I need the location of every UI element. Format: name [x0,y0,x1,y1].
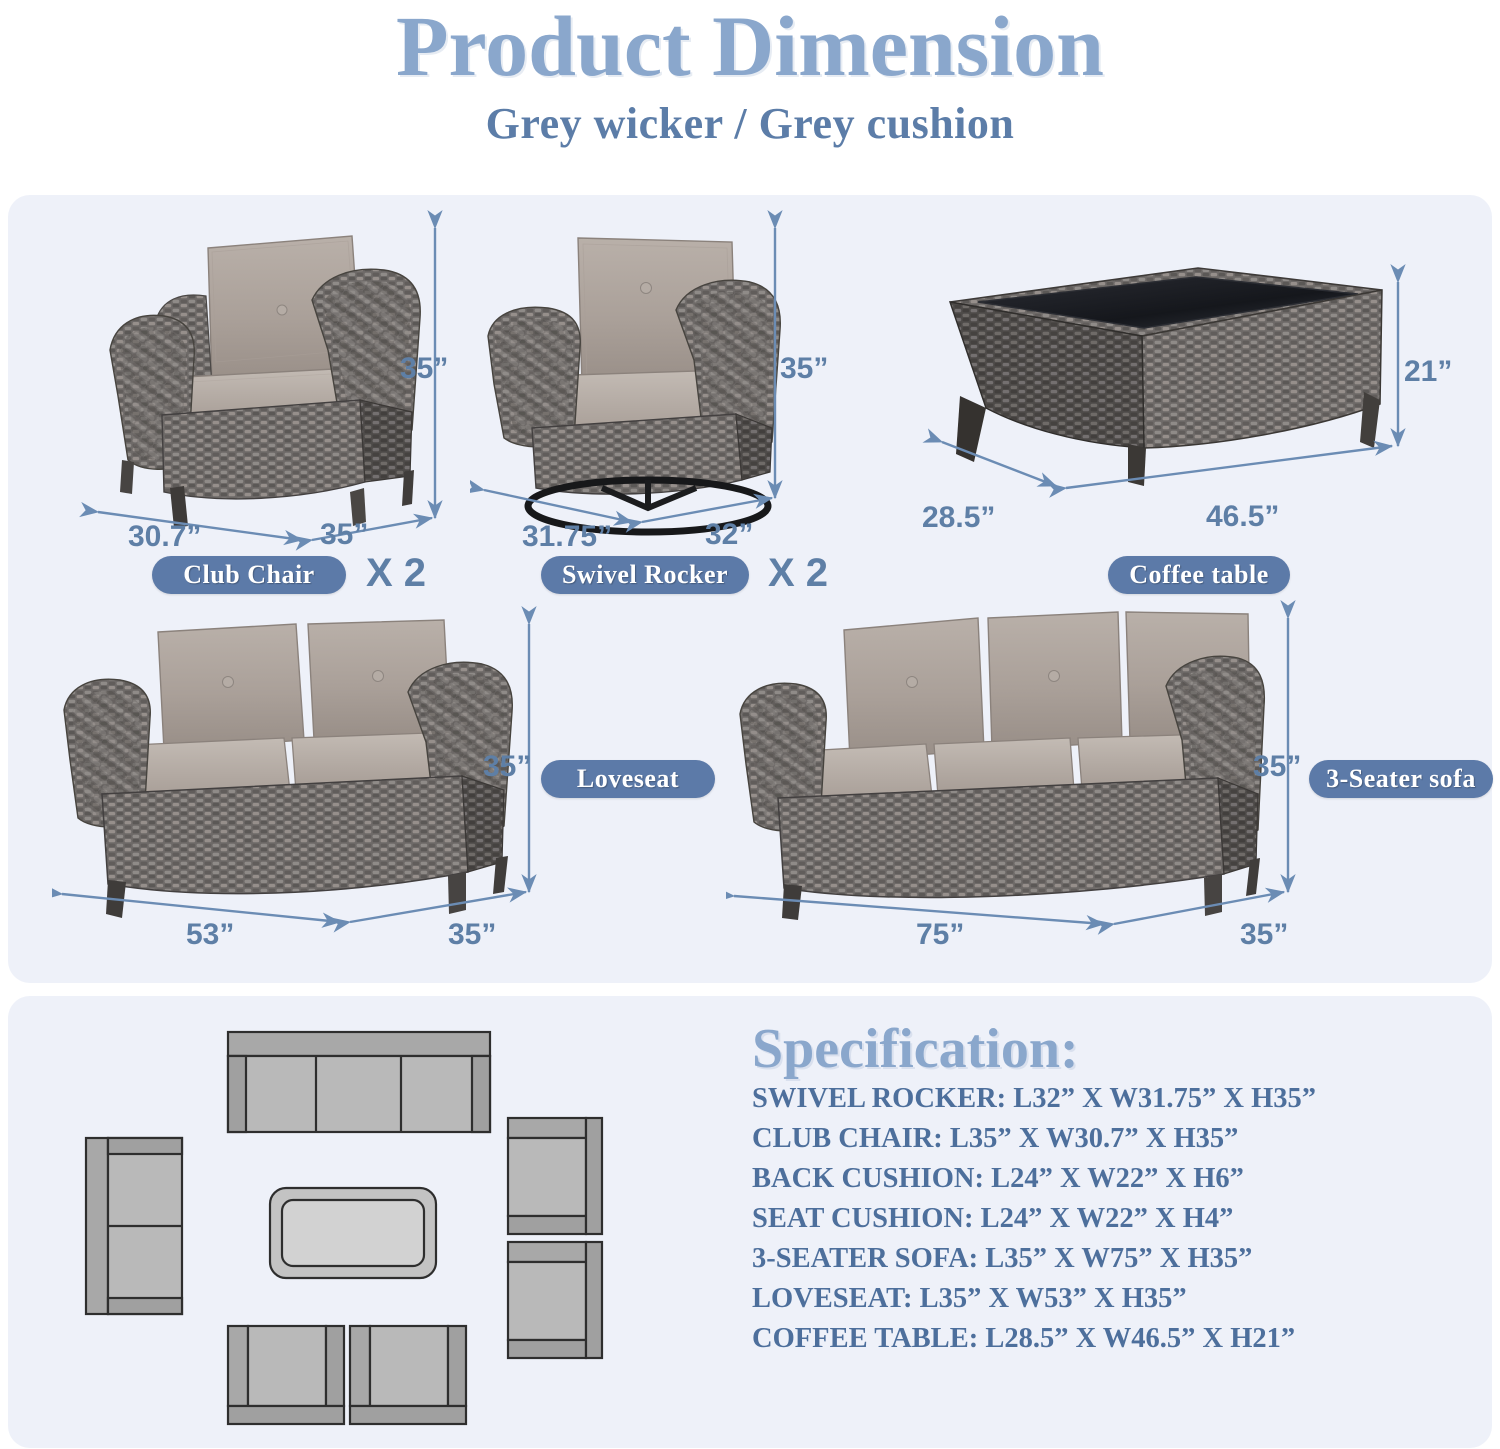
layout-coffee-table [270,1188,436,1278]
spec-line-seat-cushion: SEAT CUSHION: L24” X W22” X H4” [752,1205,1482,1234]
loveseat-badge: Loveseat [541,760,715,798]
club-chair-depth-label: 35” [320,518,368,552]
coffee-table-dimension-lines [920,250,1420,500]
loveseat-width-label: 53” [186,918,234,952]
layout-chair-right-lower [508,1242,602,1358]
layout-loveseat [86,1138,182,1314]
layout-three-seater-sofa [228,1032,490,1132]
loveseat-height-label: 35” [483,750,531,784]
three-seater-sofa-depth-label: 35” [1240,918,1288,952]
spec-line-swivel-rocker: SWIVEL ROCKER: L32” X W31.75” X H35” [752,1085,1482,1114]
club-chair-multiplier: X 2 [366,551,426,596]
spec-line-loveseat: LOVESEAT: L35” X W53” X H35” [752,1285,1482,1314]
coffee-table-height-label: 21” [1404,355,1452,389]
swivel-rocker-dimension-lines [470,200,820,560]
top-down-layout-diagram [78,1020,718,1440]
loveseat-depth-label: 35” [448,918,496,952]
page-subtitle: Grey wicker / Grey cushion [0,98,1500,149]
three-seater-sofa-height-label: 35” [1253,750,1301,784]
specification-title: Specification: [752,1020,1482,1079]
spec-line-three-seater-sofa: 3-SEATER SOFA: L35” X W75” X H35” [752,1245,1482,1274]
club-chair-badge: Club Chair [152,556,346,594]
spec-line-club-chair: CLUB CHAIR: L35” X W30.7” X H35” [752,1125,1482,1154]
spec-line-back-cushion: BACK CUSHION: L24” X W22” X H6” [752,1165,1482,1194]
three-seater-sofa-badge: 3-Seater sofa [1309,760,1493,798]
layout-chair-bottom-left [228,1326,344,1424]
three-seater-sofa-dimension-lines [726,600,1306,940]
club-chair-width-label: 30.7” [128,520,201,554]
club-chair-height-label: 35” [400,352,448,386]
coffee-table-badge: Coffee table [1108,556,1290,594]
three-seater-sofa-width-label: 75” [916,918,964,952]
swivel-rocker-depth-label: 32” [705,518,753,552]
coffee-table-width-label: 46.5” [1206,500,1279,534]
swivel-rocker-width-label: 31.75” [522,520,612,554]
swivel-rocker-badge: Swivel Rocker [541,556,749,594]
specification-block: Specification: SWIVEL ROCKER: L32” X W31… [752,1020,1482,1365]
layout-chair-bottom-right [350,1326,466,1424]
layout-chair-right-upper [508,1118,602,1234]
spec-line-coffee-table: COFFEE TABLE: L28.5” X W46.5” X H21” [752,1325,1482,1354]
product-dimension-infographic: Product Dimension Grey wicker / Grey cus… [0,0,1500,1449]
swivel-rocker-multiplier: X 2 [768,551,828,596]
coffee-table-depth-label: 28.5” [922,501,995,535]
header: Product Dimension Grey wicker / Grey cus… [0,0,1500,149]
page-title: Product Dimension [0,4,1500,90]
swivel-rocker-height-label: 35” [780,352,828,386]
